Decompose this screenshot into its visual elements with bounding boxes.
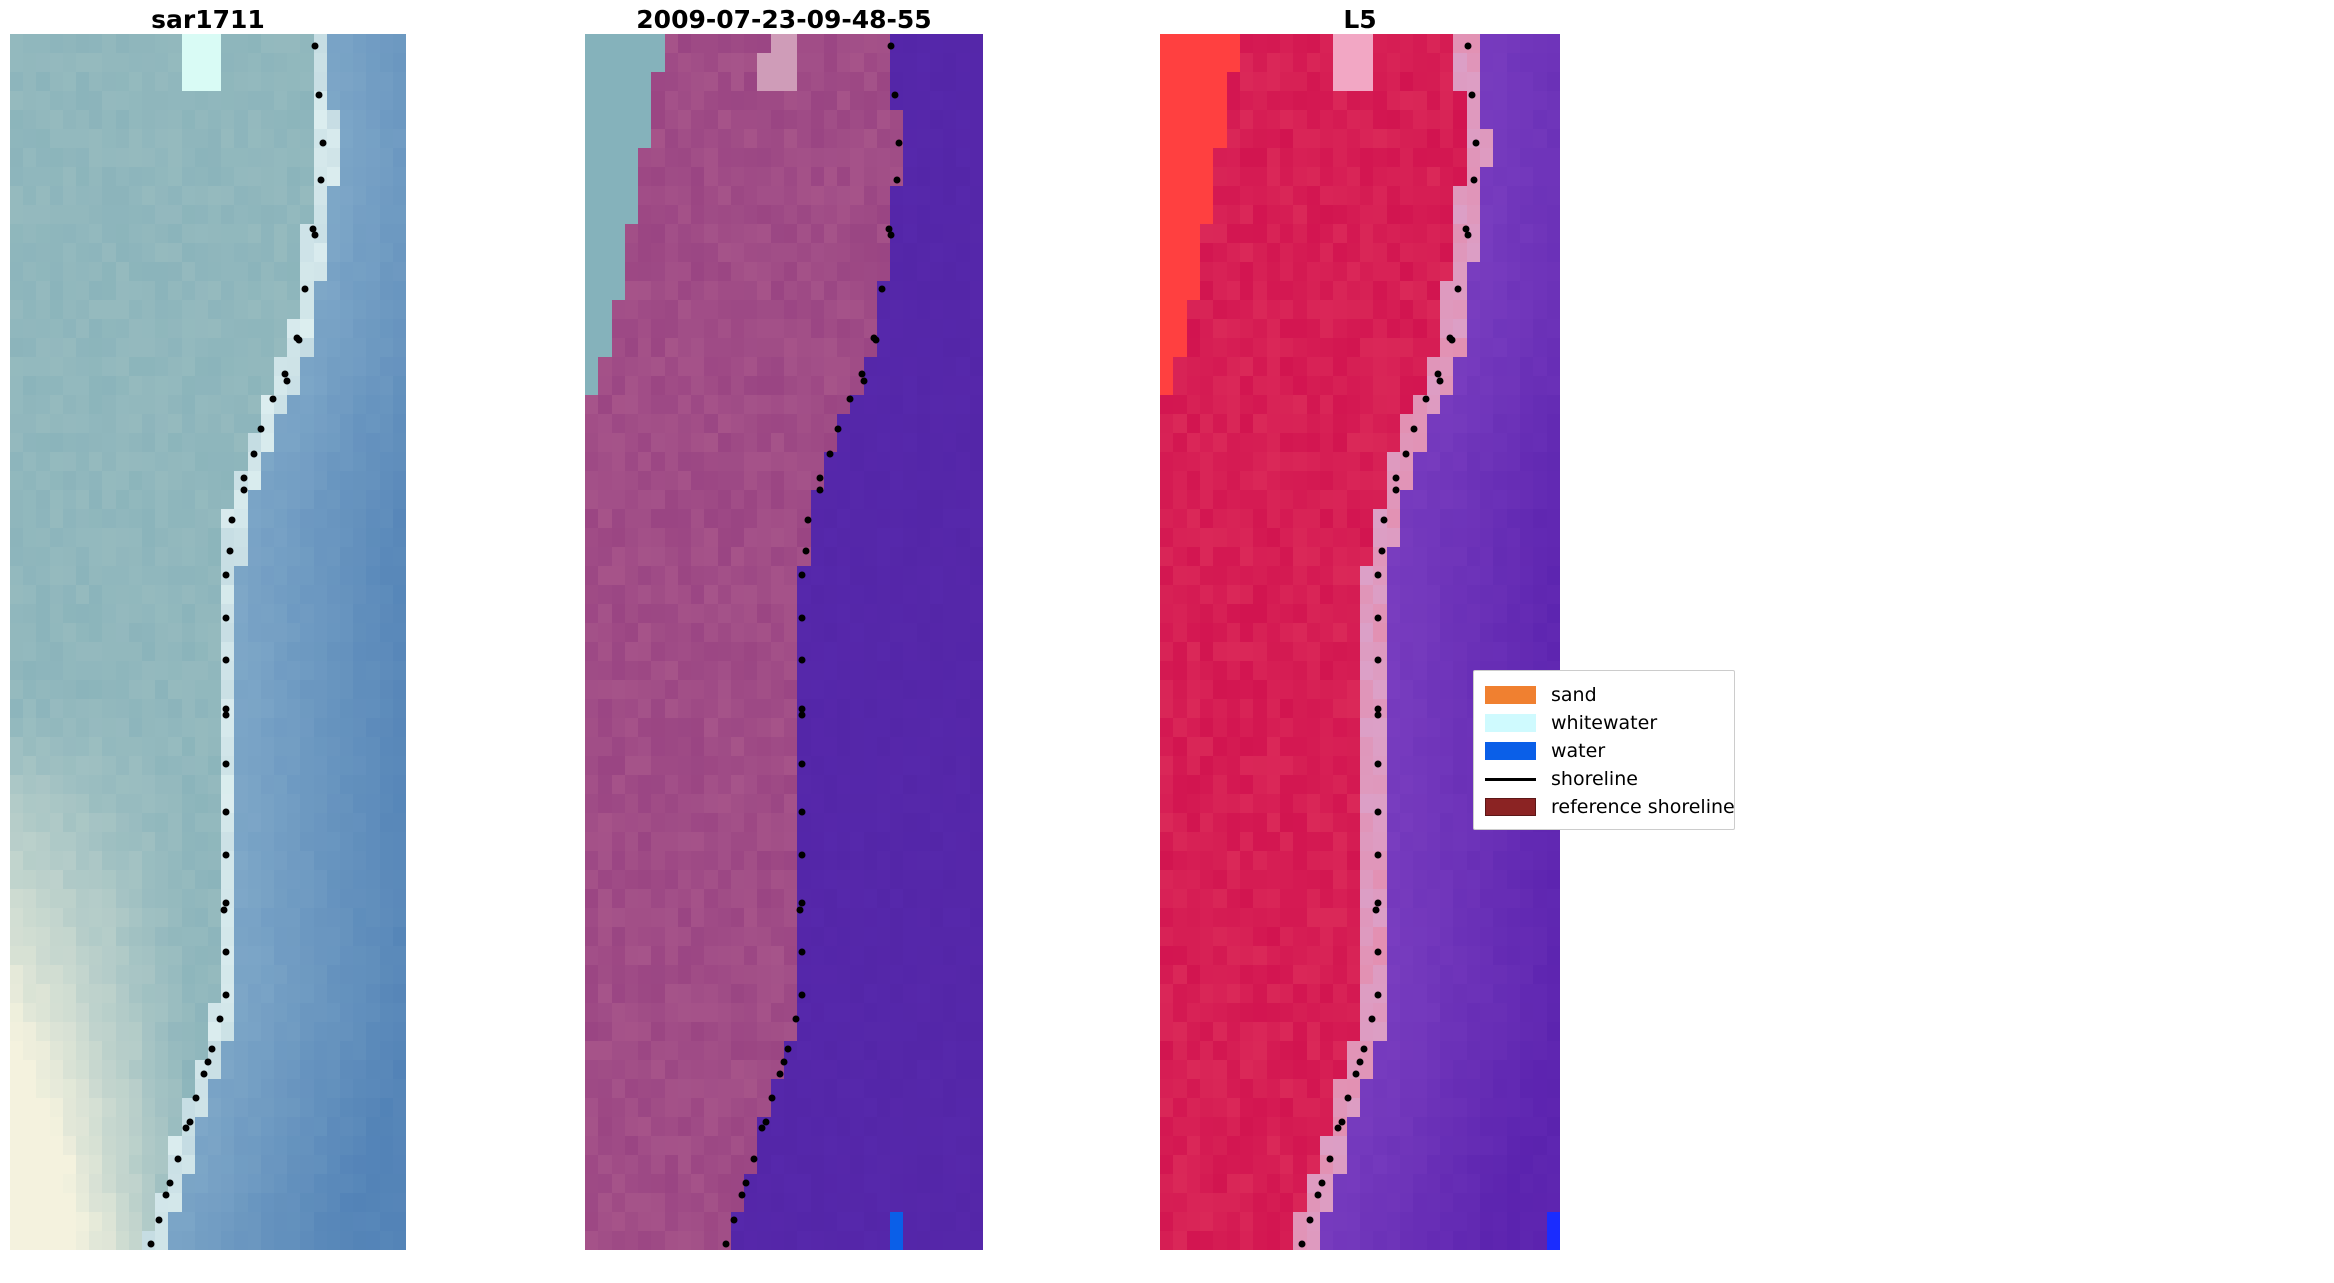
legend-swatch-water-icon <box>1485 742 1536 760</box>
sar-image-panel <box>10 34 406 1250</box>
classification-raster <box>585 34 983 1250</box>
legend-label: water <box>1551 742 1605 761</box>
legend-item-shoreline: shoreline <box>1485 765 1735 793</box>
l5-raster <box>1160 34 1560 1250</box>
l5-image-panel <box>1160 34 1560 1250</box>
sar-raster <box>10 34 406 1250</box>
panel-title-sar1711: sar1711 <box>10 5 406 34</box>
legend-swatch-whitewater-icon <box>1485 714 1536 732</box>
legend-item-sand: sand <box>1485 681 1735 709</box>
legend-list: sandwhitewaterwatershorelinereference sh… <box>1485 681 1735 821</box>
panel-title-l5: L5 <box>1160 5 1560 34</box>
legend-label: shoreline <box>1551 770 1638 789</box>
legend-item-water: water <box>1485 737 1735 765</box>
legend-label: reference shoreline <box>1551 798 1735 817</box>
panel-title-timestamp: 2009-07-23-09-48-55 <box>585 5 983 34</box>
classification-image-panel <box>585 34 983 1250</box>
legend-item-reference-shoreline: reference shoreline <box>1485 793 1735 821</box>
legend-box: sandwhitewaterwatershorelinereference sh… <box>1473 670 1735 830</box>
legend-item-whitewater: whitewater <box>1485 709 1735 737</box>
figure-canvas: sar1711 2009-07-23-09-48-55 L5 sandwhite… <box>0 0 2334 1283</box>
legend-swatch-reference-shoreline-icon <box>1485 798 1536 816</box>
legend-label: whitewater <box>1551 714 1657 733</box>
legend-swatch-sand-icon <box>1485 686 1536 704</box>
legend-swatch-shoreline-icon <box>1485 778 1536 781</box>
legend-label: sand <box>1551 686 1597 705</box>
